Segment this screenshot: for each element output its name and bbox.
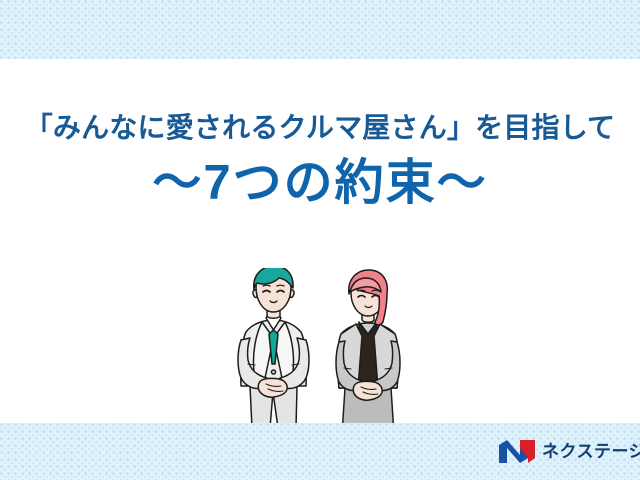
staff-illustration bbox=[232, 268, 412, 428]
promotional-banner: 「みんなに愛されるクルマ屋さん」を目指して 〜7つの約束〜 bbox=[0, 0, 640, 480]
headline-block: 「みんなに愛されるクルマ屋さん」を目指して 〜7つの約束〜 bbox=[0, 112, 640, 210]
top-dotted-band bbox=[0, 0, 640, 59]
male-staff-figure bbox=[238, 268, 309, 428]
headline-secondary-text: 〜7つの約束〜 bbox=[0, 158, 640, 209]
brand-name-text: ネクステージ bbox=[542, 443, 640, 460]
brand-logo: ネクステージ bbox=[498, 439, 640, 464]
staff-illustration-svg bbox=[232, 268, 412, 428]
female-staff-figure bbox=[336, 270, 400, 428]
headline-primary-text: 「みんなに愛されるクルマ屋さん」を目指して bbox=[0, 112, 640, 144]
nexstage-n-logo-icon bbox=[498, 439, 536, 464]
